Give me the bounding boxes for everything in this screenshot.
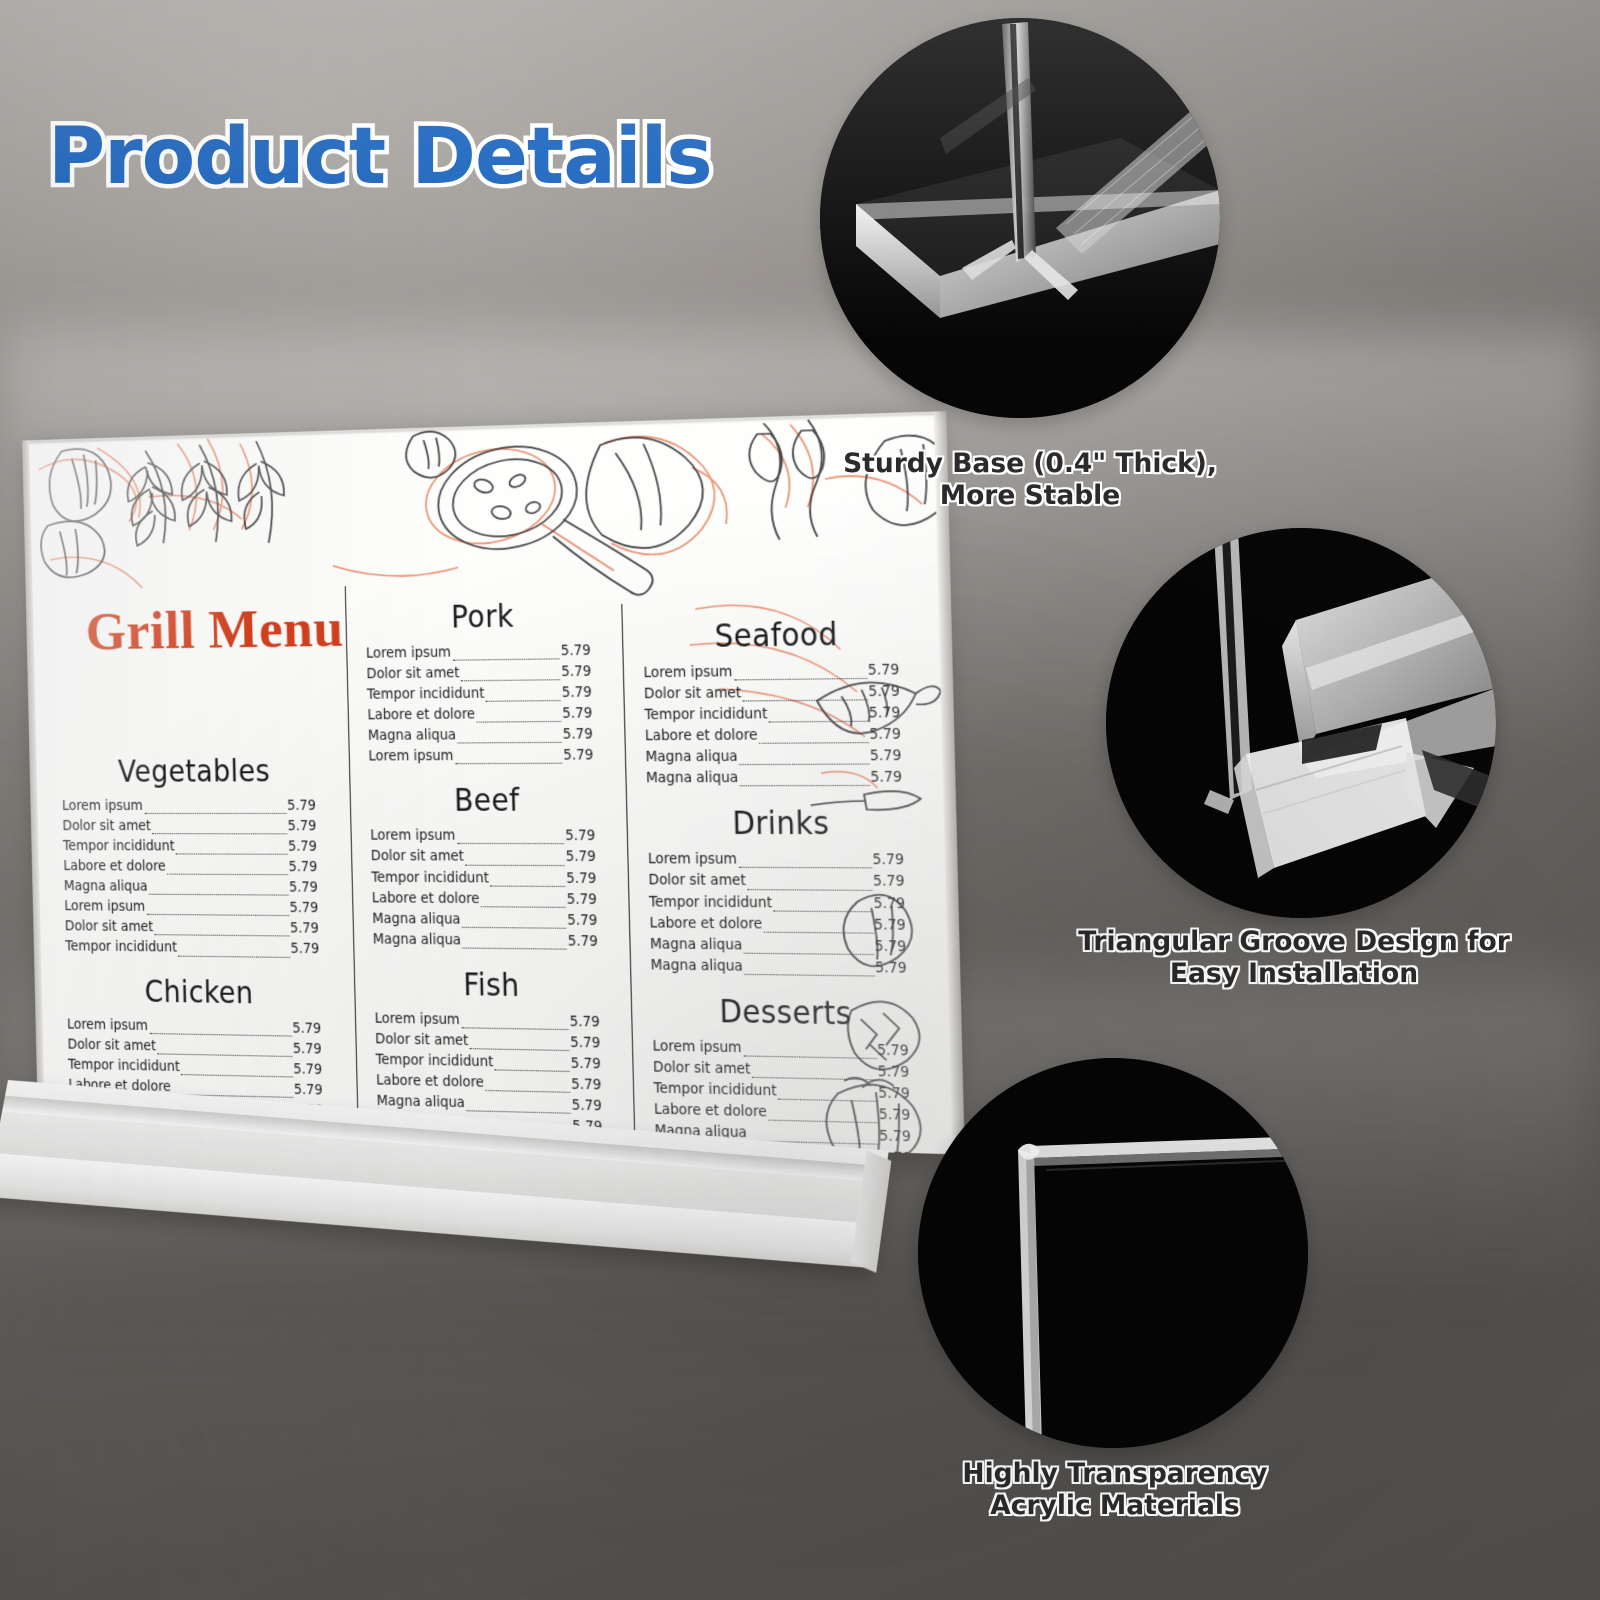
menu-section-heading: Chicken <box>84 972 315 1012</box>
menu-item-row: Dolor sit amet5.79 <box>644 682 900 706</box>
menu-item-leader <box>747 888 872 891</box>
menu-item-leader <box>759 741 869 744</box>
callout-image-sturdy-base <box>820 18 1220 418</box>
menu-item-row: Tempor incididunt5.79 <box>649 892 905 915</box>
menu-item-row: Lorem ipsum5.79 <box>64 897 318 919</box>
menu-item-leader <box>470 1047 570 1051</box>
menu-item-price: 5.79 <box>870 768 902 790</box>
menu-item-row: Magna aliqua5.79 <box>645 746 901 769</box>
menu-item-price: 5.79 <box>288 858 317 879</box>
callout-transparency: Highly Transparency Acrylic Materials <box>918 1058 1318 1448</box>
menu-item-name: Labore et dolore <box>63 857 166 878</box>
menu-item-price: 5.79 <box>562 683 592 704</box>
menu-item-leader <box>465 863 565 865</box>
menu-item-leader <box>743 951 873 955</box>
menu-item-row: Tempor incididunt5.79 <box>371 868 596 890</box>
menu-item-price: 5.79 <box>874 937 906 959</box>
menu-section-heading: Fish <box>390 965 595 1005</box>
menu-item-leader <box>763 930 873 933</box>
menu-item-price: 5.79 <box>869 703 901 725</box>
menu-item-leader <box>149 893 289 896</box>
menu-item-leader <box>490 884 565 887</box>
menu-item-row: Magna aliqua5.79 <box>373 930 598 953</box>
menu-item-row: Magna aliqua5.79 <box>646 768 902 790</box>
menu-section-items: Lorem ipsum5.79Dolor sit amet5.79Tempor … <box>643 660 916 790</box>
menu-item-row: Labore et dolore5.79 <box>367 704 592 727</box>
menu-item-name: Magna aliqua <box>650 934 743 956</box>
menu-item-price: 5.79 <box>293 1039 322 1060</box>
menu-item-name: Lorem ipsum <box>370 827 455 848</box>
menu-section-items: Lorem ipsum5.79Dolor sit amet5.79Tempor … <box>62 797 333 961</box>
menu-item-row: Labore et dolore5.79 <box>372 889 597 911</box>
menu-item-price: 5.79 <box>287 797 316 818</box>
menu-section-heading: Vegetables <box>79 753 310 790</box>
menu-item-name: Dolor sit amet <box>65 918 154 939</box>
callout-caption-sturdy-base: Sturdy Base (0.4" Thick), More Stable <box>820 448 1240 513</box>
menu-card-panel: Grill Menu VegetablesLorem ipsum5.79Dolo… <box>28 411 955 1154</box>
menu-item-price: 5.79 <box>563 725 593 746</box>
menu-item-name: Magna aliqua <box>650 956 743 978</box>
menu-item-price: 5.79 <box>867 660 899 682</box>
menu-item-row: Lorem ipsum5.79 <box>648 850 904 872</box>
menu-item-name: Tempor incididunt <box>644 705 767 727</box>
menu-item-row: Magna aliqua5.79 <box>64 877 318 899</box>
menu-item-name: Magna aliqua <box>373 930 462 952</box>
menu-item-price: 5.79 <box>567 890 597 911</box>
menu-item-row: Labore et dolore5.79 <box>645 725 901 748</box>
menu-item-price: 5.79 <box>869 725 901 747</box>
menu-item-name: Magna aliqua <box>372 909 461 930</box>
menu-item-price: 5.79 <box>568 932 598 953</box>
menu-item-name: Lorem ipsum <box>64 897 145 918</box>
menu-item-leader <box>481 905 566 908</box>
menu-item-price: 5.79 <box>561 662 591 683</box>
menu-item-price: 5.79 <box>292 1019 321 1040</box>
menu-item-name: Magna aliqua <box>646 769 739 790</box>
menu-item-row: Lorem ipsum5.79 <box>366 641 591 665</box>
menu-item-leader <box>734 677 867 681</box>
menu-item-leader <box>176 853 288 855</box>
menu-item-price: 5.79 <box>287 817 316 838</box>
menu-item-price: 5.79 <box>877 1041 909 1063</box>
menu-item-leader <box>167 873 288 876</box>
menu-item-price: 5.79 <box>872 851 904 873</box>
menu-item-name: Lorem ipsum <box>375 1009 461 1031</box>
menu-section-heading: Desserts <box>670 992 903 1034</box>
menu-section-items: Lorem ipsum5.79Dolor sit amet5.79Tempor … <box>648 850 921 980</box>
menu-section-heading: Drinks <box>665 805 898 844</box>
menu-item-row: Dolor sit amet5.79 <box>648 871 904 894</box>
menu-item-leader <box>178 954 290 957</box>
menu-item-price: 5.79 <box>289 879 318 900</box>
menu-item-price: 5.79 <box>567 911 597 932</box>
menu-item-price: 5.79 <box>875 958 907 980</box>
acrylic-base-stand <box>0 1070 920 1290</box>
menu-item-row: Labore et dolore5.79 <box>649 913 906 937</box>
background-stage: Product Details <box>0 0 1600 1600</box>
menu-item-leader <box>461 678 561 681</box>
menu-item-row: Tempor incididunt5.79 <box>367 683 592 706</box>
menu-item-leader <box>452 657 560 660</box>
menu-item-name: Lorem ipsum <box>643 662 732 684</box>
menu-item-price: 5.79 <box>563 746 593 767</box>
menu-item-name: Labore et dolore <box>372 889 480 910</box>
menu-item-price: 5.79 <box>873 872 905 894</box>
menu-item-price: 5.79 <box>562 704 592 725</box>
menu-item-leader <box>739 763 869 766</box>
menu-item-leader <box>773 909 872 912</box>
menu-item-leader <box>457 842 565 844</box>
menu-item-leader <box>144 812 286 814</box>
menu-section-items: Lorem ipsum5.79Dolor sit amet5.79Tempor … <box>370 827 610 953</box>
menu-item-row: Lorem ipsum5.79 <box>62 797 316 818</box>
menu-section-heading: Pork <box>381 596 585 637</box>
callout-triangular-groove: Triangular Groove Design for Easy Instal… <box>1106 528 1506 918</box>
menu-item-name: Dolor sit amet <box>648 871 746 893</box>
menu-item-leader <box>486 699 561 702</box>
menu-item-leader <box>739 784 869 786</box>
base-block <box>0 1080 889 1268</box>
menu-item-row: Dolor sit amet5.79 <box>62 817 316 838</box>
menu-item-name: Tempor incididunt <box>367 684 485 706</box>
menu-item-leader <box>462 925 567 928</box>
callout-caption-transparency: Highly Transparency Acrylic Materials <box>880 1458 1350 1523</box>
menu-item-leader <box>462 946 567 949</box>
page-title: Product Details <box>48 112 712 202</box>
menu-item-row: Magna aliqua5.79 <box>650 956 907 980</box>
menu-item-price: 5.79 <box>289 899 318 920</box>
menu-item-leader <box>154 934 289 937</box>
menu-item-leader <box>461 1026 569 1030</box>
callout-image-triangular-groove <box>1106 528 1496 918</box>
menu-item-name: Tempor incididunt <box>63 837 175 857</box>
menu-item-price: 5.79 <box>570 1012 601 1033</box>
menu-item-name: Labore et dolore <box>645 726 758 748</box>
menu-item-row: Magna aliqua5.79 <box>368 725 593 747</box>
menu-item-leader <box>744 973 874 977</box>
menu-item-row: Magna aliqua5.79 <box>650 934 907 958</box>
menu-item-price: 5.79 <box>290 920 319 941</box>
menu-item-row: Magna aliqua5.79 <box>372 909 597 932</box>
menu-item-name: Magna aliqua <box>64 877 148 898</box>
menu-item-leader <box>457 741 562 744</box>
menu-item-leader <box>743 698 868 701</box>
menu-item-price: 5.79 <box>873 894 905 916</box>
menu-item-row: Lorem ipsum5.79 <box>370 827 595 848</box>
menu-item-name: Labore et dolore <box>367 705 475 727</box>
menu-item-row: Dolor sit amet5.79 <box>65 918 319 941</box>
callout-image-transparency <box>918 1058 1308 1448</box>
menu-item-row: Lorem ipsum5.79 <box>643 660 899 684</box>
menu-item-name: Dolor sit amet <box>371 847 465 868</box>
menu-item-leader <box>738 866 871 869</box>
menu-item-leader <box>149 1032 292 1037</box>
menu-item-price: 5.79 <box>290 940 319 961</box>
menu-item-name: Magna aliqua <box>645 747 738 769</box>
menu-item-price: 5.79 <box>566 869 596 890</box>
callout-sturdy-base: Sturdy Base (0.4" Thick), More Stable <box>820 18 1240 418</box>
menu-item-leader <box>476 720 561 723</box>
menu-item-price: 5.79 <box>870 746 902 768</box>
menu-content: Grill Menu VegetablesLorem ipsum5.79Dolo… <box>28 411 955 1154</box>
menu-item-name: Dolor sit amet <box>62 817 151 837</box>
menu-item-row: Labore et dolore5.79 <box>63 857 317 878</box>
menu-item-name: Tempor incididunt <box>65 938 177 959</box>
menu-item-name: Dolor sit amet <box>67 1035 156 1057</box>
menu-item-leader <box>455 762 563 765</box>
menu-item-name: Lorem ipsum <box>368 747 453 768</box>
menu-item-row: Lorem ipsum5.79 <box>368 746 593 768</box>
menu-item-price: 5.79 <box>561 641 591 662</box>
menu-item-leader <box>157 1052 292 1057</box>
menu-item-name: Labore et dolore <box>649 913 762 935</box>
menu-section-heading: Seafood <box>661 614 894 656</box>
menu-item-price: 5.79 <box>288 838 317 859</box>
menu-item-name: Lorem ipsum <box>652 1037 742 1060</box>
menu-item-name: Lorem ipsum <box>62 797 143 817</box>
menu-item-name: Tempor incididunt <box>371 868 489 889</box>
menu-item-row: Tempor incididunt5.79 <box>65 938 319 961</box>
menu-item-name: Tempor incididunt <box>649 892 773 914</box>
menu-item-name: Dolor sit amet <box>366 664 460 686</box>
menu-section-items: Lorem ipsum5.79Dolor sit amet5.79Tempor … <box>366 641 606 768</box>
menu-item-row: Tempor incididunt5.79 <box>63 837 317 858</box>
menu-item-row: Dolor sit amet5.79 <box>371 847 596 869</box>
menu-column-2: PorkLorem ipsum5.79Dolor sit amet5.79Tem… <box>345 581 636 1154</box>
menu-item-name: Lorem ipsum <box>648 850 737 871</box>
menu-item-price: 5.79 <box>868 682 900 704</box>
menu-item-name: Lorem ipsum <box>67 1015 148 1037</box>
menu-section-heading: Beef <box>386 782 591 820</box>
menu-item-leader <box>769 720 868 723</box>
menu-item-leader <box>152 832 287 834</box>
callout-caption-triangular-groove: Triangular Groove Design for Easy Instal… <box>1064 926 1524 991</box>
menu-item-name: Dolor sit amet <box>375 1030 469 1052</box>
menu-card-face: Grill Menu VegetablesLorem ipsum5.79Dolo… <box>28 411 955 1154</box>
menu-item-price: 5.79 <box>874 915 906 937</box>
menu-item-price: 5.79 <box>570 1033 601 1055</box>
product-image: Grill Menu VegetablesLorem ipsum5.79Dolo… <box>0 430 930 1290</box>
menu-item-name: Magna aliqua <box>368 726 457 747</box>
menu-item-row: Tempor incididunt5.79 <box>644 703 900 726</box>
menu-item-price: 5.79 <box>565 827 595 848</box>
menu-item-name: Dolor sit amet <box>644 684 742 706</box>
menu-item-row: Dolor sit amet5.79 <box>366 662 591 685</box>
menu-item-name: Lorem ipsum <box>366 643 451 665</box>
menu-item-leader <box>146 913 289 916</box>
menu-item-leader <box>743 1054 877 1059</box>
menu-item-price: 5.79 <box>566 848 596 869</box>
